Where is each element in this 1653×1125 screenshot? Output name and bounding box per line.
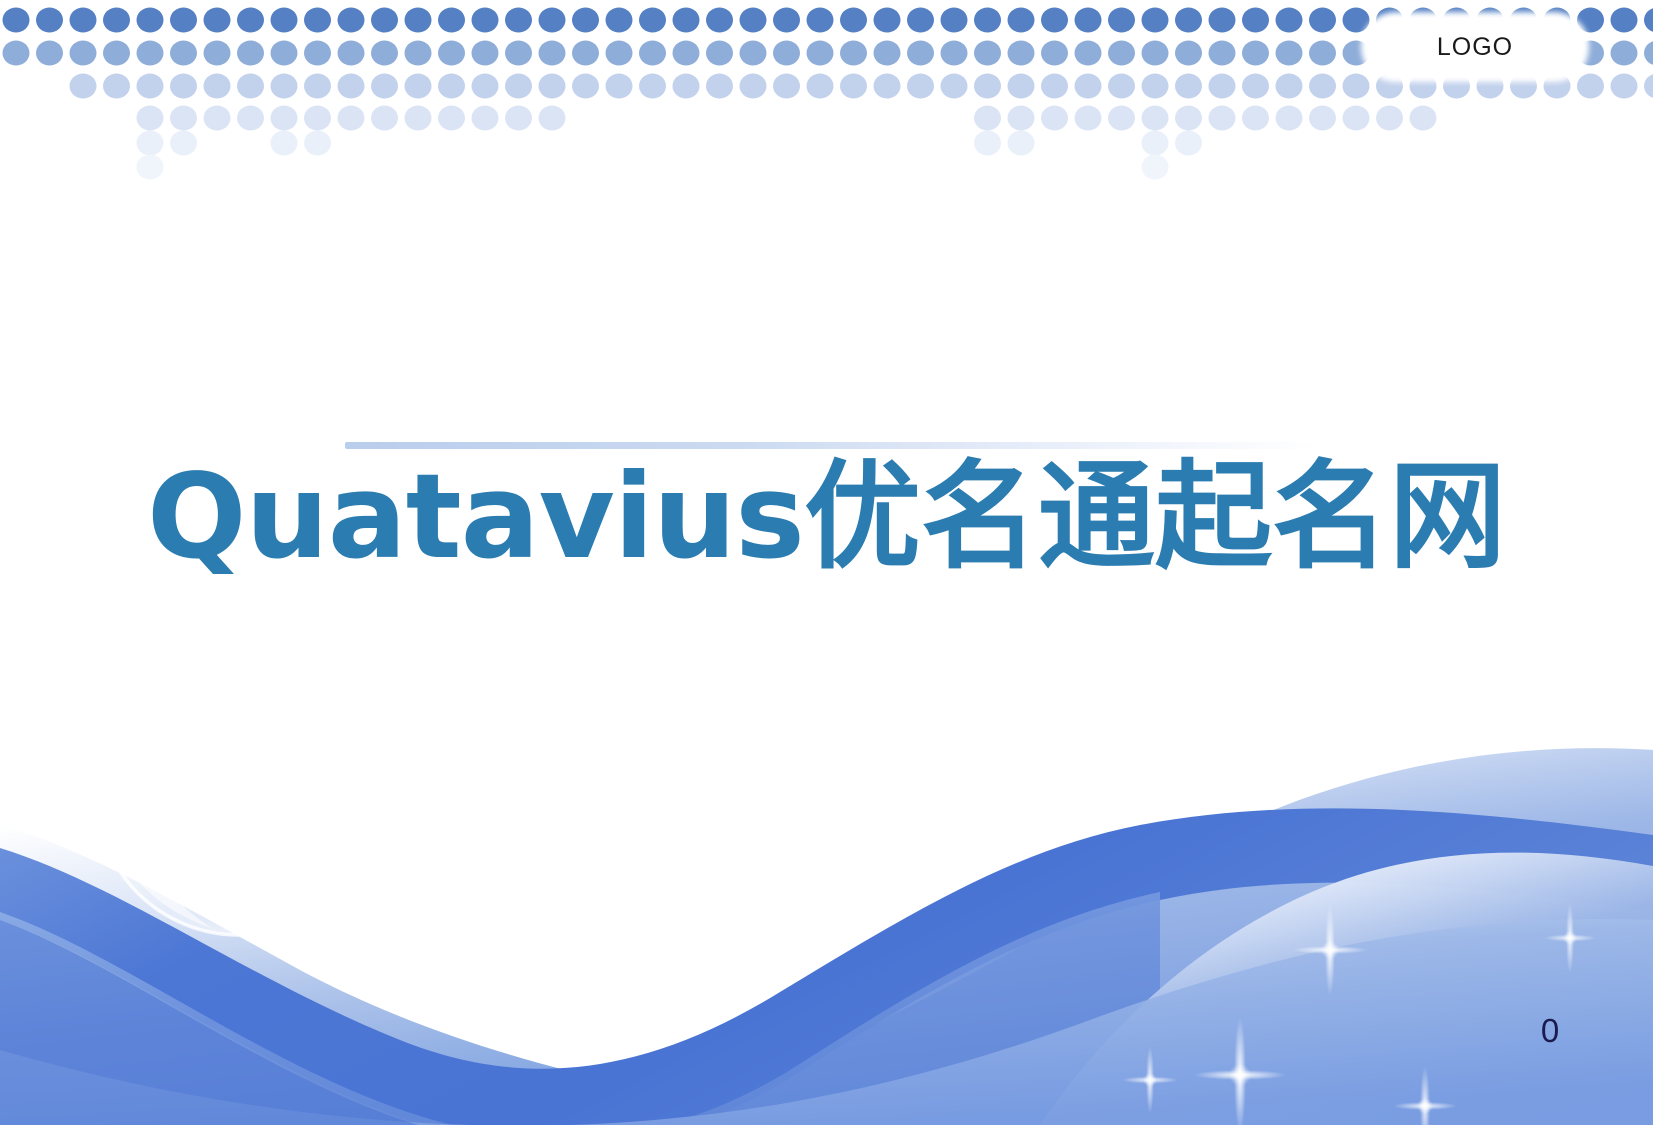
- decor-dot: [137, 8, 164, 33]
- decor-dot: [1142, 8, 1169, 33]
- decor-dot: [237, 8, 264, 33]
- decor-dot: [1075, 106, 1102, 131]
- decor-dot: [1209, 41, 1236, 66]
- decor-dot: [338, 41, 365, 66]
- decor-dot: [1175, 131, 1202, 156]
- decor-dot: [974, 106, 1001, 131]
- decor-dot: [137, 74, 164, 99]
- decor-dot: [1075, 8, 1102, 33]
- decor-dot: [304, 131, 331, 156]
- decor-dot: [304, 8, 331, 33]
- decor-dot: [237, 41, 264, 66]
- decor-dot: [1376, 74, 1403, 99]
- decor-dot: [874, 41, 901, 66]
- decor-dot: [1276, 8, 1303, 33]
- decor-dot: [1611, 41, 1638, 66]
- decor-dot: [840, 8, 867, 33]
- decor-dot: [1175, 41, 1202, 66]
- decor-dot: [405, 8, 432, 33]
- slide-canvas: LOGO Quatavius优名通起名网: [0, 0, 1653, 1125]
- decor-dot: [1242, 106, 1269, 131]
- decor-dot: [1343, 106, 1370, 131]
- decor-dot: [907, 8, 934, 33]
- decor-dot: [371, 106, 398, 131]
- decor-dot: [3, 41, 30, 66]
- decor-dot: [304, 74, 331, 99]
- decor-dot: [1410, 74, 1437, 99]
- decor-dot: [271, 131, 298, 156]
- decor-dot: [405, 74, 432, 99]
- decor-dot: [1008, 41, 1035, 66]
- decor-dot: [204, 41, 231, 66]
- decor-dot: [1075, 41, 1102, 66]
- decor-dot: [673, 41, 700, 66]
- decor-dot: [974, 8, 1001, 33]
- decor-dot: [204, 74, 231, 99]
- decor-dot: [103, 8, 130, 33]
- decor-dot: [103, 74, 130, 99]
- decor-dot: [472, 41, 499, 66]
- decor-dot: [137, 155, 164, 180]
- decor-dot: [773, 74, 800, 99]
- decor-dot: [773, 8, 800, 33]
- decor-dot: [807, 8, 834, 33]
- decor-dot: [1577, 74, 1604, 99]
- decor-dot: [1276, 74, 1303, 99]
- decor-dot: [539, 8, 566, 33]
- decor-dot: [941, 8, 968, 33]
- decor-dot: [1175, 106, 1202, 131]
- decor-dot: [237, 74, 264, 99]
- decor-dot: [606, 41, 633, 66]
- decor-dot: [1142, 155, 1169, 180]
- decor-dot: [70, 74, 97, 99]
- page-title: Quatavius优名通起名网: [0, 448, 1653, 586]
- decor-dot: [137, 41, 164, 66]
- decor-dot: [807, 74, 834, 99]
- decor-dot: [371, 41, 398, 66]
- decor-dot: [1209, 106, 1236, 131]
- small-bubble: [290, 829, 410, 952]
- decor-dot: [606, 8, 633, 33]
- decor-dot: [438, 8, 465, 33]
- decor-dot: [438, 74, 465, 99]
- decor-dot: [338, 74, 365, 99]
- decor-dot: [1175, 74, 1202, 99]
- decor-dot: [1343, 74, 1370, 99]
- decor-dot: [371, 8, 398, 33]
- decor-dot: [1209, 8, 1236, 33]
- decor-dot: [271, 8, 298, 33]
- decor-dot: [371, 74, 398, 99]
- decor-dot: [1644, 8, 1653, 33]
- logo-plate[interactable]: LOGO: [1367, 18, 1583, 76]
- decor-dot: [539, 74, 566, 99]
- decor-dot: [1175, 8, 1202, 33]
- decor-dot: [36, 8, 63, 33]
- decor-dot: [840, 41, 867, 66]
- decor-dot: [941, 41, 968, 66]
- decor-dot: [1309, 74, 1336, 99]
- decor-dot: [1276, 106, 1303, 131]
- logo-label: LOGO: [1437, 33, 1513, 62]
- decor-dot: [472, 8, 499, 33]
- decor-dot: [1611, 74, 1638, 99]
- decor-dot: [539, 41, 566, 66]
- decor-dot: [438, 41, 465, 66]
- decor-dot: [505, 8, 532, 33]
- decor-dot: [505, 106, 532, 131]
- decor-dot: [606, 74, 633, 99]
- decor-dot: [807, 41, 834, 66]
- decor-dot: [36, 41, 63, 66]
- decor-dot: [874, 8, 901, 33]
- decor-dot: [1209, 74, 1236, 99]
- decor-dot: [907, 41, 934, 66]
- decor-dot: [1041, 74, 1068, 99]
- decor-dot: [1242, 41, 1269, 66]
- decor-dot: [706, 41, 733, 66]
- decor-dot: [1343, 41, 1370, 66]
- decor-dot: [1008, 131, 1035, 156]
- decor-dot: [1108, 74, 1135, 99]
- decor-dot: [1276, 41, 1303, 66]
- decor-dot: [1443, 74, 1470, 99]
- decor-dot: [1008, 8, 1035, 33]
- decor-dot: [907, 74, 934, 99]
- decor-dot: [1510, 74, 1537, 99]
- decor-dot: [1142, 106, 1169, 131]
- decor-dot: [338, 8, 365, 33]
- decor-dot: [1008, 106, 1035, 131]
- decor-dot: [405, 41, 432, 66]
- decor-dot: [1108, 41, 1135, 66]
- decor-dot: [1644, 74, 1653, 99]
- decor-dot: [1544, 74, 1571, 99]
- decor-dot: [1041, 41, 1068, 66]
- decor-dot: [1477, 74, 1504, 99]
- title-block: Quatavius优名通起名网: [0, 400, 1653, 620]
- decor-dot: [1309, 41, 1336, 66]
- decor-dot: [1577, 8, 1604, 33]
- decor-dot: [572, 41, 599, 66]
- decor-dot: [974, 41, 1001, 66]
- decor-dot: [338, 106, 365, 131]
- decor-dot: [170, 131, 197, 156]
- decor-dot: [1108, 106, 1135, 131]
- decor-dot: [271, 74, 298, 99]
- decor-dot: [70, 41, 97, 66]
- decor-dot: [740, 8, 767, 33]
- decor-dot: [271, 41, 298, 66]
- decor-dot: [137, 131, 164, 156]
- decor-dot: [1309, 106, 1336, 131]
- decor-dot: [974, 131, 1001, 156]
- decor-dot: [639, 8, 666, 33]
- decor-dot: [539, 106, 566, 131]
- decor-dot: [472, 74, 499, 99]
- decor-dot: [639, 41, 666, 66]
- decor-dot: [673, 74, 700, 99]
- decor-dot: [70, 8, 97, 33]
- decor-dot: [706, 74, 733, 99]
- decor-dot: [472, 106, 499, 131]
- decor-dot: [505, 74, 532, 99]
- decor-dot: [1142, 41, 1169, 66]
- decor-dot: [1142, 74, 1169, 99]
- decor-dot: [170, 74, 197, 99]
- decor-dot: [572, 74, 599, 99]
- decor-dot: [170, 8, 197, 33]
- decor-dot: [740, 74, 767, 99]
- decor-dot: [572, 8, 599, 33]
- decor-dot: [170, 41, 197, 66]
- decor-dot: [304, 106, 331, 131]
- decor-dot: [1410, 106, 1437, 131]
- decor-dot: [706, 8, 733, 33]
- decor-dot: [874, 74, 901, 99]
- decor-dot: [1242, 8, 1269, 33]
- decor-dot: [1611, 8, 1638, 33]
- decor-dot: [1309, 8, 1336, 33]
- decor-dot: [974, 74, 1001, 99]
- decor-dot: [1008, 74, 1035, 99]
- decor-dot: [204, 8, 231, 33]
- decor-dot: [304, 41, 331, 66]
- decor-dot: [1041, 106, 1068, 131]
- decor-dot: [237, 106, 264, 131]
- decor-dot: [137, 106, 164, 131]
- decor-dot: [271, 106, 298, 131]
- decor-dot: [1108, 8, 1135, 33]
- decor-dot: [639, 74, 666, 99]
- decor-dot: [438, 106, 465, 131]
- decor-dot: [1041, 8, 1068, 33]
- decor-dot: [773, 41, 800, 66]
- decor-dot: [1644, 41, 1653, 66]
- decor-dot: [740, 41, 767, 66]
- decor-dot: [170, 106, 197, 131]
- decor-dot: [1242, 74, 1269, 99]
- decor-dot: [1343, 8, 1370, 33]
- bottom-wave-artwork: [0, 620, 1653, 1125]
- decor-dot: [405, 106, 432, 131]
- page-title-latin: Quatavius: [147, 448, 804, 585]
- page-number: 0: [1520, 1012, 1580, 1050]
- decor-dot: [505, 41, 532, 66]
- page-title-cjk: 优名通起名网: [804, 448, 1506, 585]
- decor-dot: [103, 41, 130, 66]
- decor-dot: [941, 74, 968, 99]
- decor-dot: [673, 8, 700, 33]
- decor-dot: [204, 106, 231, 131]
- decor-dot: [3, 8, 30, 33]
- decor-dot: [1142, 131, 1169, 156]
- decor-dot: [1376, 106, 1403, 131]
- decor-dot: [1075, 74, 1102, 99]
- decor-dot: [840, 74, 867, 99]
